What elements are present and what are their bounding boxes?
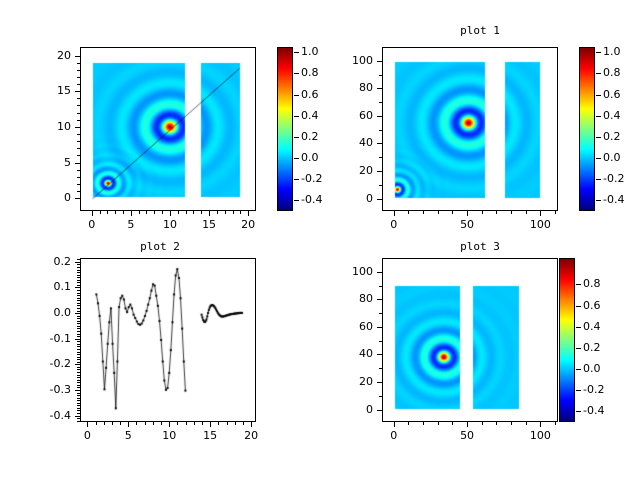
ytick-minor bbox=[77, 375, 80, 376]
xtick-label: 0 bbox=[72, 218, 112, 231]
ytick-minor bbox=[77, 369, 80, 370]
ytick-minor bbox=[77, 70, 80, 71]
colorbar-tick bbox=[294, 179, 299, 180]
ytick-major bbox=[75, 262, 80, 263]
xtick-minor bbox=[120, 422, 121, 425]
xtick-minor bbox=[123, 211, 124, 214]
ytick-minor bbox=[77, 408, 80, 409]
xtick-major bbox=[170, 211, 171, 216]
lineplot-bottom-left bbox=[81, 259, 255, 421]
colorbar-tick bbox=[576, 369, 581, 370]
xtick-minor bbox=[482, 211, 483, 214]
colorbar-tick bbox=[294, 73, 299, 74]
ytick-minor bbox=[77, 155, 80, 156]
figure-canvas: 0510152005101520-0.4-0.20.00.20.40.60.81… bbox=[0, 0, 640, 480]
xtick-minor bbox=[408, 211, 409, 214]
ytick-minor bbox=[77, 326, 80, 327]
ytick-minor bbox=[77, 148, 80, 149]
ytick-minor bbox=[77, 113, 80, 114]
colorbar-tick-label: 0.0 bbox=[583, 362, 623, 375]
xtick-minor bbox=[423, 211, 424, 214]
ytick-minor bbox=[77, 372, 80, 373]
ytick-minor bbox=[77, 403, 80, 404]
ytick-major bbox=[75, 313, 80, 314]
ytick-label: 5 bbox=[27, 156, 71, 169]
panel-bottom-left: plot 2 05101520-0.4-0.3-0.2-0.10.00.10.2 bbox=[0, 240, 320, 480]
axes-top-left bbox=[80, 47, 256, 211]
xtick-minor bbox=[526, 211, 527, 214]
xtick-minor bbox=[218, 422, 219, 425]
xtick-minor bbox=[496, 211, 497, 214]
xtick-major bbox=[251, 422, 252, 427]
ytick-minor bbox=[77, 298, 80, 299]
ytick-label: -0.1 bbox=[27, 332, 71, 345]
xtick-major bbox=[540, 211, 541, 216]
ytick-minor bbox=[77, 170, 80, 171]
xtick-minor bbox=[233, 211, 234, 214]
xtick-minor bbox=[243, 422, 244, 425]
ytick-label: 60 bbox=[329, 109, 373, 122]
xtick-label: 5 bbox=[111, 218, 151, 231]
ytick-minor bbox=[77, 77, 80, 78]
colorbar-tick bbox=[294, 116, 299, 117]
ytick-major bbox=[377, 410, 382, 411]
ytick-label: 10 bbox=[27, 120, 71, 133]
ytick-label: 20 bbox=[329, 375, 373, 388]
ytick-minor bbox=[77, 352, 80, 353]
xtick-label: 50 bbox=[447, 429, 487, 442]
xtick-minor bbox=[139, 211, 140, 214]
ytick-minor bbox=[379, 75, 382, 76]
xtick-minor bbox=[452, 211, 453, 214]
xtick-major bbox=[128, 422, 129, 427]
colorbar-tick-label: 0.4 bbox=[583, 320, 623, 333]
ytick-minor bbox=[77, 334, 80, 335]
colorbar-tick-label: 0.2 bbox=[583, 341, 623, 354]
xtick-minor bbox=[555, 422, 556, 425]
xtick-minor bbox=[146, 211, 147, 214]
ytick-minor bbox=[77, 344, 80, 345]
ytick-minor bbox=[77, 280, 80, 281]
ytick-minor bbox=[77, 300, 80, 301]
ytick-minor bbox=[77, 134, 80, 135]
ytick-minor bbox=[77, 400, 80, 401]
ytick-minor bbox=[77, 98, 80, 99]
xtick-major bbox=[467, 422, 468, 427]
ytick-minor bbox=[379, 102, 382, 103]
colorbar-tick-label: 0.8 bbox=[603, 66, 640, 79]
ytick-major bbox=[377, 88, 382, 89]
xtick-minor bbox=[555, 211, 556, 214]
ytick-label: 15 bbox=[27, 84, 71, 97]
xtick-label: 15 bbox=[190, 429, 230, 442]
heatmap-top-left bbox=[81, 48, 255, 210]
ytick-minor bbox=[77, 331, 80, 332]
colorbar-top-right bbox=[579, 47, 595, 211]
xtick-minor bbox=[452, 422, 453, 425]
ytick-minor bbox=[77, 405, 80, 406]
xtick-label: 0 bbox=[374, 429, 414, 442]
xtick-label: 10 bbox=[149, 429, 189, 442]
xtick-minor bbox=[145, 422, 146, 425]
xtick-label: 0 bbox=[374, 218, 414, 231]
xtick-minor bbox=[115, 211, 116, 214]
colorbar-top-left bbox=[277, 47, 293, 211]
colorbar-tick bbox=[576, 327, 581, 328]
ytick-minor bbox=[77, 336, 80, 337]
xtick-major bbox=[131, 211, 132, 216]
ytick-minor bbox=[77, 275, 80, 276]
colorbar-tick bbox=[294, 52, 299, 53]
ytick-minor bbox=[77, 341, 80, 342]
ytick-minor bbox=[379, 341, 382, 342]
xtick-minor bbox=[217, 211, 218, 214]
ytick-minor bbox=[379, 396, 382, 397]
ytick-minor bbox=[77, 267, 80, 268]
ytick-major bbox=[377, 143, 382, 144]
ytick-major bbox=[377, 354, 382, 355]
ytick-minor bbox=[77, 141, 80, 142]
ytick-minor bbox=[77, 316, 80, 317]
ytick-minor bbox=[379, 130, 382, 131]
panel-top-right-title: plot 1 bbox=[380, 24, 580, 37]
ytick-minor bbox=[379, 157, 382, 158]
ytick-major bbox=[75, 390, 80, 391]
ytick-label: -0.4 bbox=[27, 409, 71, 422]
ytick-minor bbox=[77, 259, 80, 260]
ytick-minor bbox=[379, 286, 382, 287]
ytick-label: 40 bbox=[329, 347, 373, 360]
ytick-major bbox=[377, 199, 382, 200]
xtick-minor bbox=[240, 211, 241, 214]
xtick-minor bbox=[100, 211, 101, 214]
xtick-major bbox=[87, 422, 88, 427]
ytick-minor bbox=[77, 421, 80, 422]
ytick-major bbox=[377, 272, 382, 273]
colorbar-tick-label: 0.4 bbox=[603, 109, 640, 122]
xtick-minor bbox=[153, 422, 154, 425]
ytick-minor bbox=[77, 323, 80, 324]
ytick-minor bbox=[77, 184, 80, 185]
ytick-minor bbox=[77, 357, 80, 358]
xtick-label: 50 bbox=[447, 218, 487, 231]
ytick-label: 0 bbox=[329, 192, 373, 205]
xtick-minor bbox=[104, 422, 105, 425]
ytick-major bbox=[75, 287, 80, 288]
ytick-label: -0.2 bbox=[27, 357, 71, 370]
colorbar-tick-label: 0.8 bbox=[583, 277, 623, 290]
xtick-minor bbox=[423, 422, 424, 425]
xtick-major bbox=[210, 422, 211, 427]
ytick-minor bbox=[77, 380, 80, 381]
ytick-minor bbox=[77, 308, 80, 309]
panel-top-right: plot 1 050100020406080100-0.4-0.20.00.20… bbox=[320, 0, 640, 240]
ytick-minor bbox=[77, 272, 80, 273]
colorbar-tick bbox=[294, 158, 299, 159]
ytick-minor bbox=[77, 295, 80, 296]
ytick-minor bbox=[77, 398, 80, 399]
ytick-major bbox=[377, 61, 382, 62]
ytick-major bbox=[75, 56, 80, 57]
xtick-minor bbox=[178, 211, 179, 214]
xtick-minor bbox=[112, 422, 113, 425]
heatmap-bottom-right bbox=[383, 259, 557, 421]
xtick-minor bbox=[186, 422, 187, 425]
colorbar-tick bbox=[576, 348, 581, 349]
xtick-minor bbox=[161, 422, 162, 425]
xtick-label: 100 bbox=[520, 218, 560, 231]
ytick-minor bbox=[77, 354, 80, 355]
xtick-minor bbox=[96, 422, 97, 425]
xtick-minor bbox=[177, 422, 178, 425]
colorbar-tick-label: -0.4 bbox=[603, 193, 640, 206]
xtick-minor bbox=[526, 422, 527, 425]
ytick-label: 0.0 bbox=[27, 306, 71, 319]
ytick-minor bbox=[77, 285, 80, 286]
xtick-label: 20 bbox=[228, 218, 268, 231]
ytick-minor bbox=[77, 321, 80, 322]
ytick-minor bbox=[77, 413, 80, 414]
xtick-minor bbox=[162, 211, 163, 214]
panel-bottom-right-title: plot 3 bbox=[380, 240, 580, 253]
heatmap-top-right bbox=[383, 48, 557, 210]
xtick-minor bbox=[154, 211, 155, 214]
colorbar-tick bbox=[576, 284, 581, 285]
panel-bottom-left-title: plot 2 bbox=[60, 240, 260, 253]
xtick-minor bbox=[227, 422, 228, 425]
ytick-label: 20 bbox=[329, 164, 373, 177]
ytick-minor bbox=[77, 270, 80, 271]
ytick-minor bbox=[77, 349, 80, 350]
xtick-minor bbox=[438, 211, 439, 214]
ytick-label: 0 bbox=[27, 191, 71, 204]
colorbar-tick bbox=[596, 116, 601, 117]
ytick-minor bbox=[77, 290, 80, 291]
colorbar-tick bbox=[576, 411, 581, 412]
xtick-major bbox=[540, 422, 541, 427]
colorbar-tick-label: 0.6 bbox=[583, 299, 623, 312]
xtick-major bbox=[467, 211, 468, 216]
ytick-minor bbox=[77, 410, 80, 411]
ytick-minor bbox=[77, 328, 80, 329]
ytick-label: 0.2 bbox=[27, 255, 71, 268]
ytick-minor bbox=[77, 282, 80, 283]
ytick-minor bbox=[77, 84, 80, 85]
xtick-minor bbox=[511, 422, 512, 425]
ytick-label: 0 bbox=[329, 403, 373, 416]
xtick-minor bbox=[136, 422, 137, 425]
ytick-minor bbox=[77, 377, 80, 378]
ytick-minor bbox=[77, 303, 80, 304]
ytick-minor bbox=[77, 362, 80, 363]
axes-bottom-right bbox=[382, 258, 558, 422]
xtick-label: 5 bbox=[108, 429, 148, 442]
ytick-major bbox=[377, 327, 382, 328]
ytick-minor bbox=[379, 368, 382, 369]
colorbar-tick-label: -0.2 bbox=[583, 383, 623, 396]
colorbar-tick bbox=[596, 95, 601, 96]
xtick-label: 10 bbox=[150, 218, 190, 231]
ytick-minor bbox=[77, 385, 80, 386]
xtick-minor bbox=[193, 211, 194, 214]
colorbar-tick bbox=[596, 158, 601, 159]
ytick-minor bbox=[77, 418, 80, 419]
colorbar-tick-label: 0.0 bbox=[603, 151, 640, 164]
ytick-minor bbox=[379, 185, 382, 186]
ytick-major bbox=[75, 163, 80, 164]
ytick-minor bbox=[77, 318, 80, 319]
ytick-major bbox=[377, 171, 382, 172]
xtick-major bbox=[209, 211, 210, 216]
ytick-minor bbox=[77, 264, 80, 265]
panel-bottom-right: plot 3 050100020406080100-0.4-0.20.00.20… bbox=[320, 240, 640, 480]
ytick-minor bbox=[379, 313, 382, 314]
colorbar-tick bbox=[596, 137, 601, 138]
ytick-minor bbox=[77, 393, 80, 394]
ytick-minor bbox=[77, 395, 80, 396]
xtick-minor bbox=[186, 211, 187, 214]
xtick-label: 100 bbox=[520, 429, 560, 442]
ytick-minor bbox=[77, 105, 80, 106]
xtick-major bbox=[92, 211, 93, 216]
colorbar-tick bbox=[576, 306, 581, 307]
colorbar-tick bbox=[576, 390, 581, 391]
ytick-major bbox=[75, 127, 80, 128]
ytick-minor bbox=[77, 311, 80, 312]
colorbar-tick bbox=[596, 73, 601, 74]
ytick-label: 80 bbox=[329, 292, 373, 305]
ytick-major bbox=[377, 382, 382, 383]
ytick-label: 80 bbox=[329, 81, 373, 94]
xtick-minor bbox=[482, 422, 483, 425]
xtick-label: 0 bbox=[67, 429, 107, 442]
xtick-major bbox=[248, 211, 249, 216]
ytick-minor bbox=[77, 63, 80, 64]
ytick-minor bbox=[77, 191, 80, 192]
ytick-minor bbox=[77, 359, 80, 360]
xtick-minor bbox=[201, 211, 202, 214]
ytick-major bbox=[75, 339, 80, 340]
xtick-label: 15 bbox=[189, 218, 229, 231]
xtick-minor bbox=[511, 211, 512, 214]
colorbar-tick bbox=[596, 200, 601, 201]
colorbar-tick-label: 0.2 bbox=[603, 130, 640, 143]
colorbar-tick bbox=[596, 52, 601, 53]
ytick-minor bbox=[77, 277, 80, 278]
ytick-label: 20 bbox=[27, 49, 71, 62]
xtick-minor bbox=[235, 422, 236, 425]
ytick-major bbox=[377, 299, 382, 300]
xtick-minor bbox=[408, 422, 409, 425]
colorbar-tick bbox=[294, 95, 299, 96]
ytick-label: 60 bbox=[329, 320, 373, 333]
ytick-label: 100 bbox=[329, 54, 373, 67]
axes-bottom-left bbox=[80, 258, 256, 422]
ytick-minor bbox=[77, 120, 80, 121]
xtick-minor bbox=[496, 422, 497, 425]
panel-top-left: 0510152005101520-0.4-0.20.00.20.40.60.81… bbox=[0, 0, 320, 240]
xtick-major bbox=[169, 422, 170, 427]
xtick-major bbox=[394, 422, 395, 427]
xtick-minor bbox=[107, 211, 108, 214]
xtick-label: 20 bbox=[231, 429, 271, 442]
colorbar-gradient-top-right bbox=[580, 48, 594, 210]
ytick-major bbox=[377, 116, 382, 117]
ytick-minor bbox=[77, 177, 80, 178]
ytick-minor bbox=[77, 382, 80, 383]
ytick-major bbox=[75, 364, 80, 365]
ytick-minor bbox=[77, 346, 80, 347]
ytick-major bbox=[75, 91, 80, 92]
colorbar-tick-label: 0.6 bbox=[603, 88, 640, 101]
xtick-minor bbox=[438, 422, 439, 425]
ytick-label: 40 bbox=[329, 136, 373, 149]
ytick-label: 0.1 bbox=[27, 280, 71, 293]
colorbar-bottom-right bbox=[559, 258, 575, 422]
colorbar-tick bbox=[294, 200, 299, 201]
axes-top-right bbox=[382, 47, 558, 211]
ytick-major bbox=[75, 198, 80, 199]
colorbar-tick-label: -0.4 bbox=[583, 404, 623, 417]
colorbar-gradient-bottom-right bbox=[560, 259, 574, 421]
ytick-minor bbox=[77, 367, 80, 368]
xtick-major bbox=[394, 211, 395, 216]
colorbar-tick bbox=[294, 137, 299, 138]
colorbar-tick-label: -0.2 bbox=[603, 172, 640, 185]
ytick-minor bbox=[77, 305, 80, 306]
ytick-minor bbox=[77, 387, 80, 388]
ytick-major bbox=[75, 416, 80, 417]
ytick-label: 100 bbox=[329, 265, 373, 278]
colorbar-gradient-top-left bbox=[278, 48, 292, 210]
ytick-minor bbox=[77, 293, 80, 294]
xtick-minor bbox=[202, 422, 203, 425]
xtick-minor bbox=[225, 211, 226, 214]
xtick-minor bbox=[194, 422, 195, 425]
ytick-label: -0.3 bbox=[27, 383, 71, 396]
colorbar-tick bbox=[596, 179, 601, 180]
colorbar-tick-label: 1.0 bbox=[603, 45, 640, 58]
